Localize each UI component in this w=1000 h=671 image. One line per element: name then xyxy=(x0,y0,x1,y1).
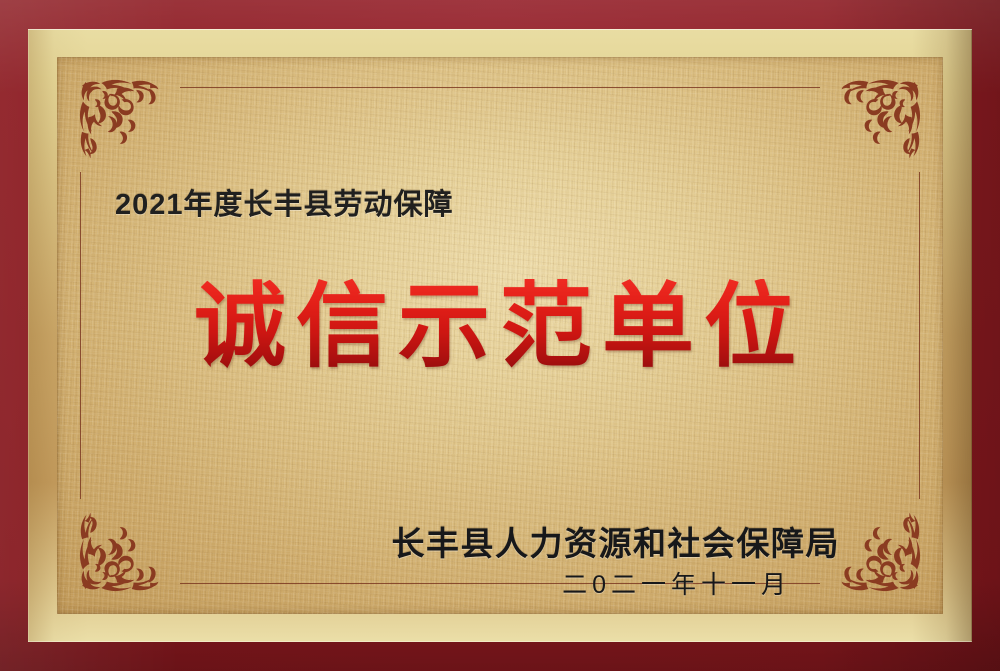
plaque-text-content: 2021年度长丰县劳动保障 诚信示范单位 长丰县人力资源和社会保障局 二0二一年… xyxy=(57,57,943,614)
issue-date: 二0二一年十一月 xyxy=(562,565,791,601)
issuing-authority: 长丰县人力资源和社会保障局 xyxy=(392,517,841,565)
header-line: 2021年度长丰县劳动保障 xyxy=(115,181,454,223)
certificate-plaque: 2021年度长丰县劳动保障 诚信示范单位 长丰县人力资源和社会保障局 二0二一年… xyxy=(0,0,1000,671)
page-title: 诚信示范单位 xyxy=(57,279,943,376)
inner-gold-panel: 2021年度长丰县劳动保障 诚信示范单位 长丰县人力资源和社会保障局 二0二一年… xyxy=(57,57,943,614)
